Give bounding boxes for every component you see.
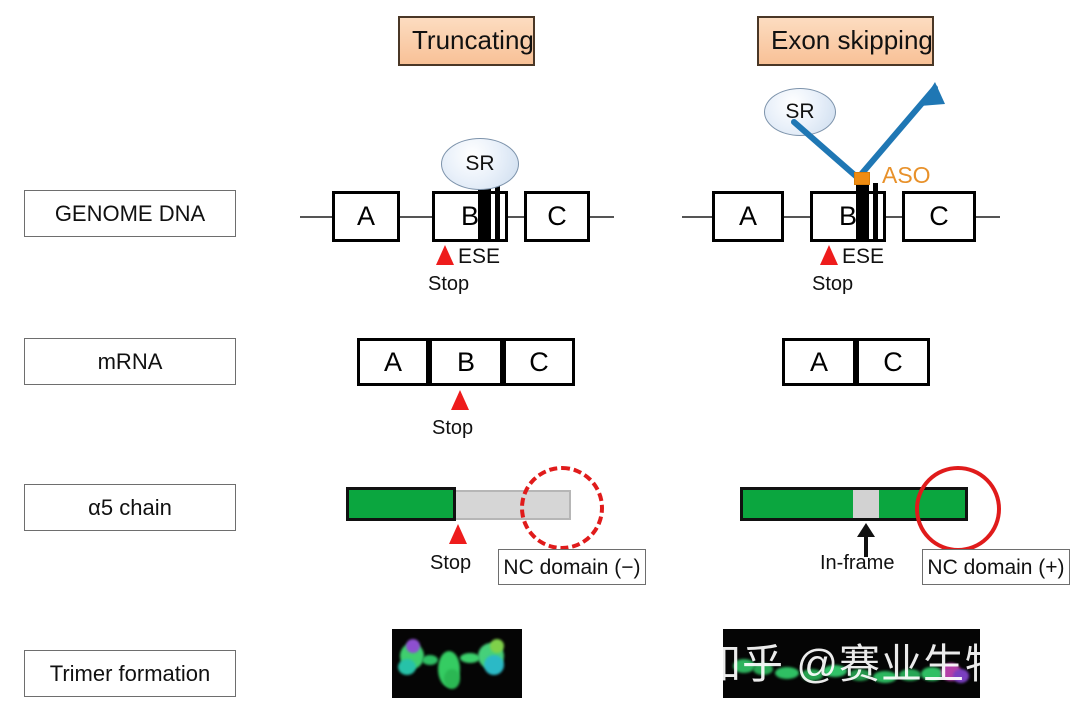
ese-label-exon-skipping: ESE bbox=[842, 246, 884, 267]
sr-protein-truncating: SR bbox=[441, 138, 519, 190]
intron-line-mid-2-right-col bbox=[884, 216, 904, 218]
trimer-micrograph-truncating bbox=[392, 629, 522, 698]
watermark-text: 知乎 @赛业生物cyagen bbox=[700, 644, 1080, 685]
mrna-exon-c-exon-skipping: C bbox=[856, 338, 930, 386]
intron-line-mid-1-right-col bbox=[784, 216, 812, 218]
nc-domain-label-present: NC domain (+) bbox=[922, 549, 1070, 585]
genome-exon-a-truncating: A bbox=[332, 191, 400, 242]
aso-label: ASO bbox=[882, 162, 931, 189]
row-label-mrna: mRNA bbox=[24, 338, 236, 385]
column-title-truncating: Truncating bbox=[398, 16, 535, 66]
stop-label-chain-truncating: Stop bbox=[430, 553, 471, 573]
nc-domain-label-absent: NC domain (−) bbox=[498, 549, 646, 585]
chain-inframe-gap bbox=[853, 487, 879, 521]
ese-bar-exon-skipping bbox=[856, 183, 869, 242]
intron-line-left bbox=[300, 216, 334, 218]
intron-line-left-right-col bbox=[682, 216, 714, 218]
stop-label-genome-truncating: Stop bbox=[428, 274, 469, 294]
genome-exon-c-truncating: C bbox=[524, 191, 590, 242]
nc-domain-circle-absent bbox=[520, 466, 604, 550]
inframe-label: In-frame bbox=[820, 553, 894, 573]
mrna-exon-c-truncating: C bbox=[503, 338, 575, 386]
mrna-exon-a-truncating: A bbox=[357, 338, 429, 386]
genome-exon-c-exon-skipping: C bbox=[902, 191, 976, 242]
intron-line-right-right-col bbox=[974, 216, 1000, 218]
stop-arrow-genome-truncating bbox=[436, 245, 454, 265]
ese-bar-truncating bbox=[478, 183, 491, 242]
ese-bar-thin-truncating bbox=[495, 183, 500, 242]
intron-line-mid-2 bbox=[506, 216, 526, 218]
mrna-exon-b-truncating: B bbox=[429, 338, 503, 386]
aso-marker bbox=[854, 172, 870, 185]
column-title-exon-skipping: Exon skipping bbox=[757, 16, 934, 66]
row-label-a5-chain: α5 chain bbox=[24, 484, 236, 531]
intron-line-mid-1 bbox=[398, 216, 434, 218]
sr-deflection-arrow bbox=[780, 70, 960, 185]
chain-green-segment-truncating bbox=[346, 487, 456, 521]
stop-arrow-mrna-truncating bbox=[451, 390, 469, 410]
stop-arrow-chain-truncating bbox=[449, 524, 467, 544]
stop-label-genome-exon-skipping: Stop bbox=[812, 274, 853, 294]
intron-line-right bbox=[588, 216, 614, 218]
stop-label-mrna-truncating: Stop bbox=[432, 418, 473, 438]
ese-label-truncating: ESE bbox=[458, 246, 500, 267]
row-label-genome-dna: GENOME DNA bbox=[24, 190, 236, 237]
nc-domain-circle-present bbox=[915, 466, 1001, 552]
ese-bar-thin-exon-skipping bbox=[873, 183, 878, 242]
genome-exon-a-exon-skipping: A bbox=[712, 191, 784, 242]
mrna-exon-a-exon-skipping: A bbox=[782, 338, 856, 386]
watermark-main: 知乎 @赛业生物cyag bbox=[700, 641, 1080, 687]
row-label-trimer-formation: Trimer formation bbox=[24, 650, 236, 697]
stop-arrow-genome-exon-skipping bbox=[820, 245, 838, 265]
figure-canvas: Truncating Exon skipping GENOME DNA mRNA… bbox=[0, 0, 1080, 710]
